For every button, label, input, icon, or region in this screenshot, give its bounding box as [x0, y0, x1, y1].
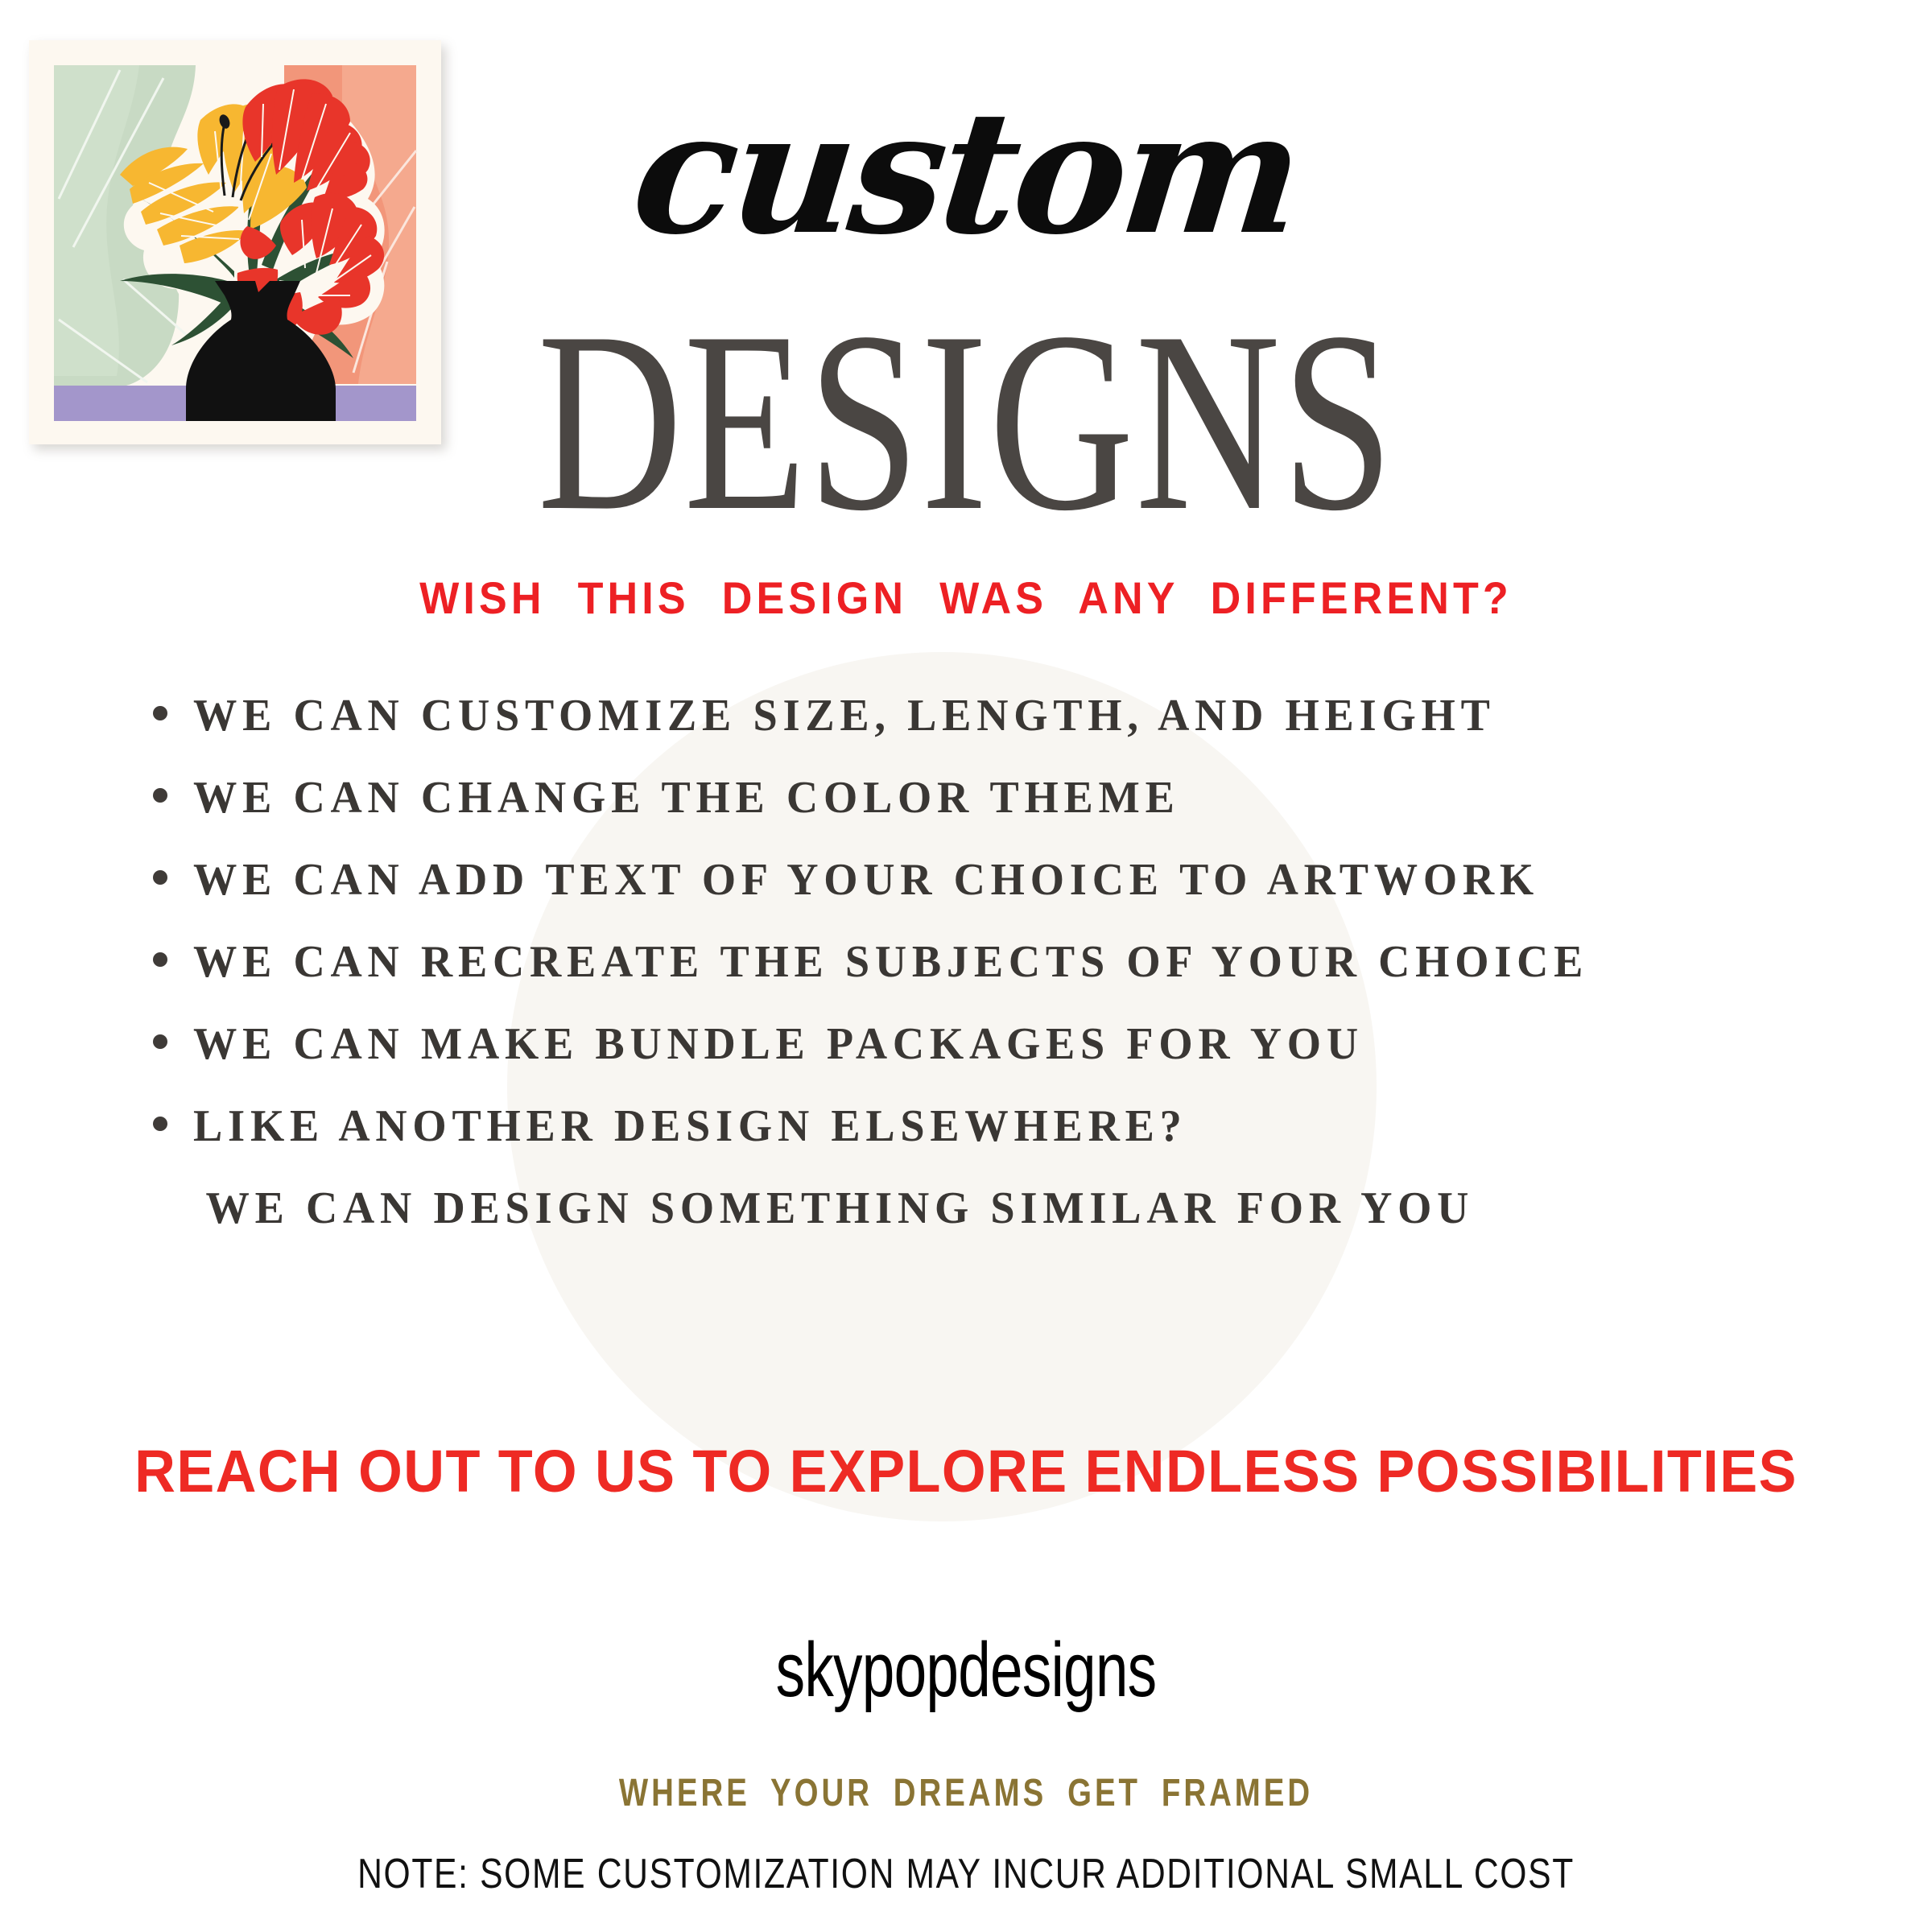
footer-note: NOTE: SOME CUSTOMIZATION MAY INCUR ADDIT… — [174, 1850, 1758, 1898]
bullet-dot-icon — [153, 952, 167, 967]
list-item-label: WE CAN ADD TEXT OF YOUR CHOICE TO ARTWOR… — [193, 857, 1539, 904]
list-item-label: LIKE ANOTHER DESIGN ELSEWHERE? — [193, 1103, 1187, 1150]
list-item-label: WE CAN RECREATE THE SUBJECTS OF YOUR CHO… — [193, 939, 1588, 986]
bullet-dot-icon — [153, 870, 167, 885]
list-item-label: WE CAN DESIGN SOMETHING SIMILAR FOR YOU — [193, 1185, 1474, 1232]
bullet-dot-icon — [153, 1117, 167, 1131]
poster-canvas: custom DESIGNS WISH THIS DESIGN WAS ANY … — [0, 0, 1932, 1932]
list-item: LIKE ANOTHER DESIGN ELSEWHERE? — [153, 1103, 1827, 1151]
call-to-action: REACH OUT TO US TO EXPLORE ENDLESS POSSI… — [48, 1437, 1884, 1505]
bullet-dot-icon — [153, 1034, 167, 1049]
list-item-label: WE CAN MAKE BUNDLE PACKAGES FOR YOU — [193, 1021, 1364, 1068]
brand-logo-text: skypopdesigns — [232, 1626, 1700, 1715]
page-title: DESIGNS — [213, 322, 1719, 523]
bullet-dot-icon — [153, 706, 167, 720]
subtitle: WISH THIS DESIGN WAS ANY DIFFERENT? — [68, 572, 1864, 624]
bullet-dot-icon — [153, 788, 167, 803]
list-item-label: WE CAN CUSTOMIZE SIZE, LENGTH, AND HEIGH… — [193, 692, 1496, 740]
list-item: WE CAN RECREATE THE SUBJECTS OF YOUR CHO… — [153, 939, 1827, 987]
list-item-continuation: WE CAN DESIGN SOMETHING SIMILAR FOR YOU — [153, 1185, 1827, 1233]
list-item-label: WE CAN CHANGE THE COLOR THEME — [193, 774, 1180, 822]
brand-tagline: WHERE YOUR DREAMS GET FRAMED — [193, 1771, 1739, 1815]
list-item: WE CAN ADD TEXT OF YOUR CHOICE TO ARTWOR… — [153, 857, 1827, 905]
list-item: WE CAN CUSTOMIZE SIZE, LENGTH, AND HEIGH… — [153, 692, 1827, 741]
script-heading: custom — [0, 89, 1932, 258]
list-item: WE CAN MAKE BUNDLE PACKAGES FOR YOU — [153, 1021, 1827, 1069]
feature-list: WE CAN CUSTOMIZE SIZE, LENGTH, AND HEIGH… — [153, 692, 1827, 1267]
list-item: WE CAN CHANGE THE COLOR THEME — [153, 774, 1827, 823]
